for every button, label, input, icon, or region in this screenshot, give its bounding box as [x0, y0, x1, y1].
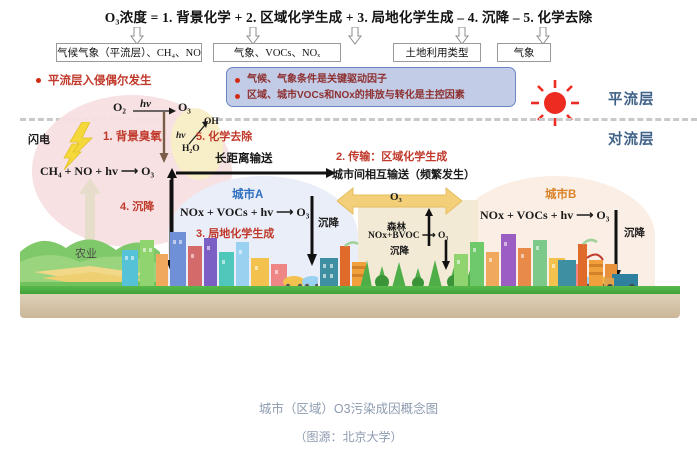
regional-transport-title: 2. 传输：区域化学生成 — [336, 148, 447, 164]
factor-box-meteo-precursors: 气象、VOCs、NOₓ — [213, 43, 341, 62]
chemical-removal-label: 5. 化学去除 — [196, 128, 252, 144]
reaction-ch4-no-hv: CH₄ + NO + hv ⟶ O₃ — [40, 164, 154, 179]
figure-caption-source: （图源：北京大学） — [0, 428, 697, 445]
agriculture-label: 农业 — [75, 245, 97, 261]
stratospheric-intrusion-label: 平流层入侵偶尔发生 — [48, 72, 152, 88]
stratospheric-intrusion-note: 平流层入侵偶尔发生 — [36, 72, 152, 88]
product-o3: O₃ — [178, 100, 191, 114]
diagram-canvas: O₃浓度 = 1. 背景化学 + 2. 区域化学生成 + 3. 局地化学生成 –… — [0, 0, 697, 457]
intercity-transport-label: 城市间相互输送（频繁发生） — [332, 166, 475, 182]
city-b-name: 城市B — [545, 186, 576, 202]
factor-box-meteorology: 气象 — [497, 43, 551, 62]
forest-emission-arrow-icon — [424, 208, 434, 246]
callout-bullet-label: 气候、气象条件是关键驱动因子 — [247, 72, 387, 88]
photolysis-label-hv: hv — [140, 98, 151, 110]
bullet-icon — [36, 78, 41, 83]
soil-band — [20, 294, 680, 318]
layer-label-troposphere: 对流层 — [608, 128, 655, 149]
figure-caption-title: 城市（区域）O3污染成因概念图 — [0, 398, 697, 417]
layer-label-stratosphere: 平流层 — [608, 88, 655, 109]
ozone-downward-arrow-icon — [158, 112, 170, 164]
callout-bullet-label: 区域、城市VOCs和NOx的排放与转化是主控因素 — [247, 88, 465, 104]
page-title-formula: O₃浓度 = 1. 背景化学 + 2. 区域化学生成 + 3. 局地化学生成 –… — [0, 6, 697, 26]
long-distance-transport-label: 长距离输送 — [215, 150, 273, 166]
lightning-bolt-icon — [62, 122, 102, 170]
long-distance-transport-arrow-icon — [176, 168, 336, 178]
bullet-icon — [235, 78, 240, 83]
forest-equation: NOx+BVOC ⟶ O₃ — [368, 230, 448, 241]
lightning-label: 闪电 — [28, 131, 50, 147]
city-b-equation: NOx + VOCs + hv ⟶ O₃ — [480, 208, 609, 223]
callout-bullet-row: 气候、气象条件是关键驱动因子 — [235, 72, 507, 88]
city-a-equation: NOx + VOCs + hv ⟶ O₃ — [180, 205, 309, 220]
photolysis-label-hv-2: hv — [176, 131, 186, 141]
bullet-icon — [235, 94, 240, 99]
transport-arrow-label: O₃ — [390, 191, 402, 203]
reactant-o2: O₂ — [113, 100, 126, 114]
background-ozone-label: 1. 背景臭氧 — [103, 128, 162, 144]
city-a-name: 城市A — [232, 186, 263, 202]
key-drivers-callout: 气候、气象条件是关键驱动因子 区域、城市VOCs和NOx的排放与转化是主控因素 — [226, 67, 516, 107]
factor-box-climate: 气候气象（平流层）、CH₄、NO — [56, 43, 202, 62]
factor-box-landuse: 土地利用类型 — [393, 43, 481, 62]
city-a-skyline-illustration — [118, 228, 318, 288]
down-arrow-icon — [348, 27, 362, 45]
city-a-deposition-label: 沉降 — [318, 215, 339, 230]
reaction-ch4-text: CH₄ + NO + hv ⟶ O₃ — [40, 164, 154, 178]
deposition-4-label: 4. 沉降 — [120, 198, 154, 214]
factory-truck-illustration — [556, 236, 642, 288]
callout-bullet-row: 区域、城市VOCs和NOx的排放与转化是主控因素 — [235, 88, 507, 104]
